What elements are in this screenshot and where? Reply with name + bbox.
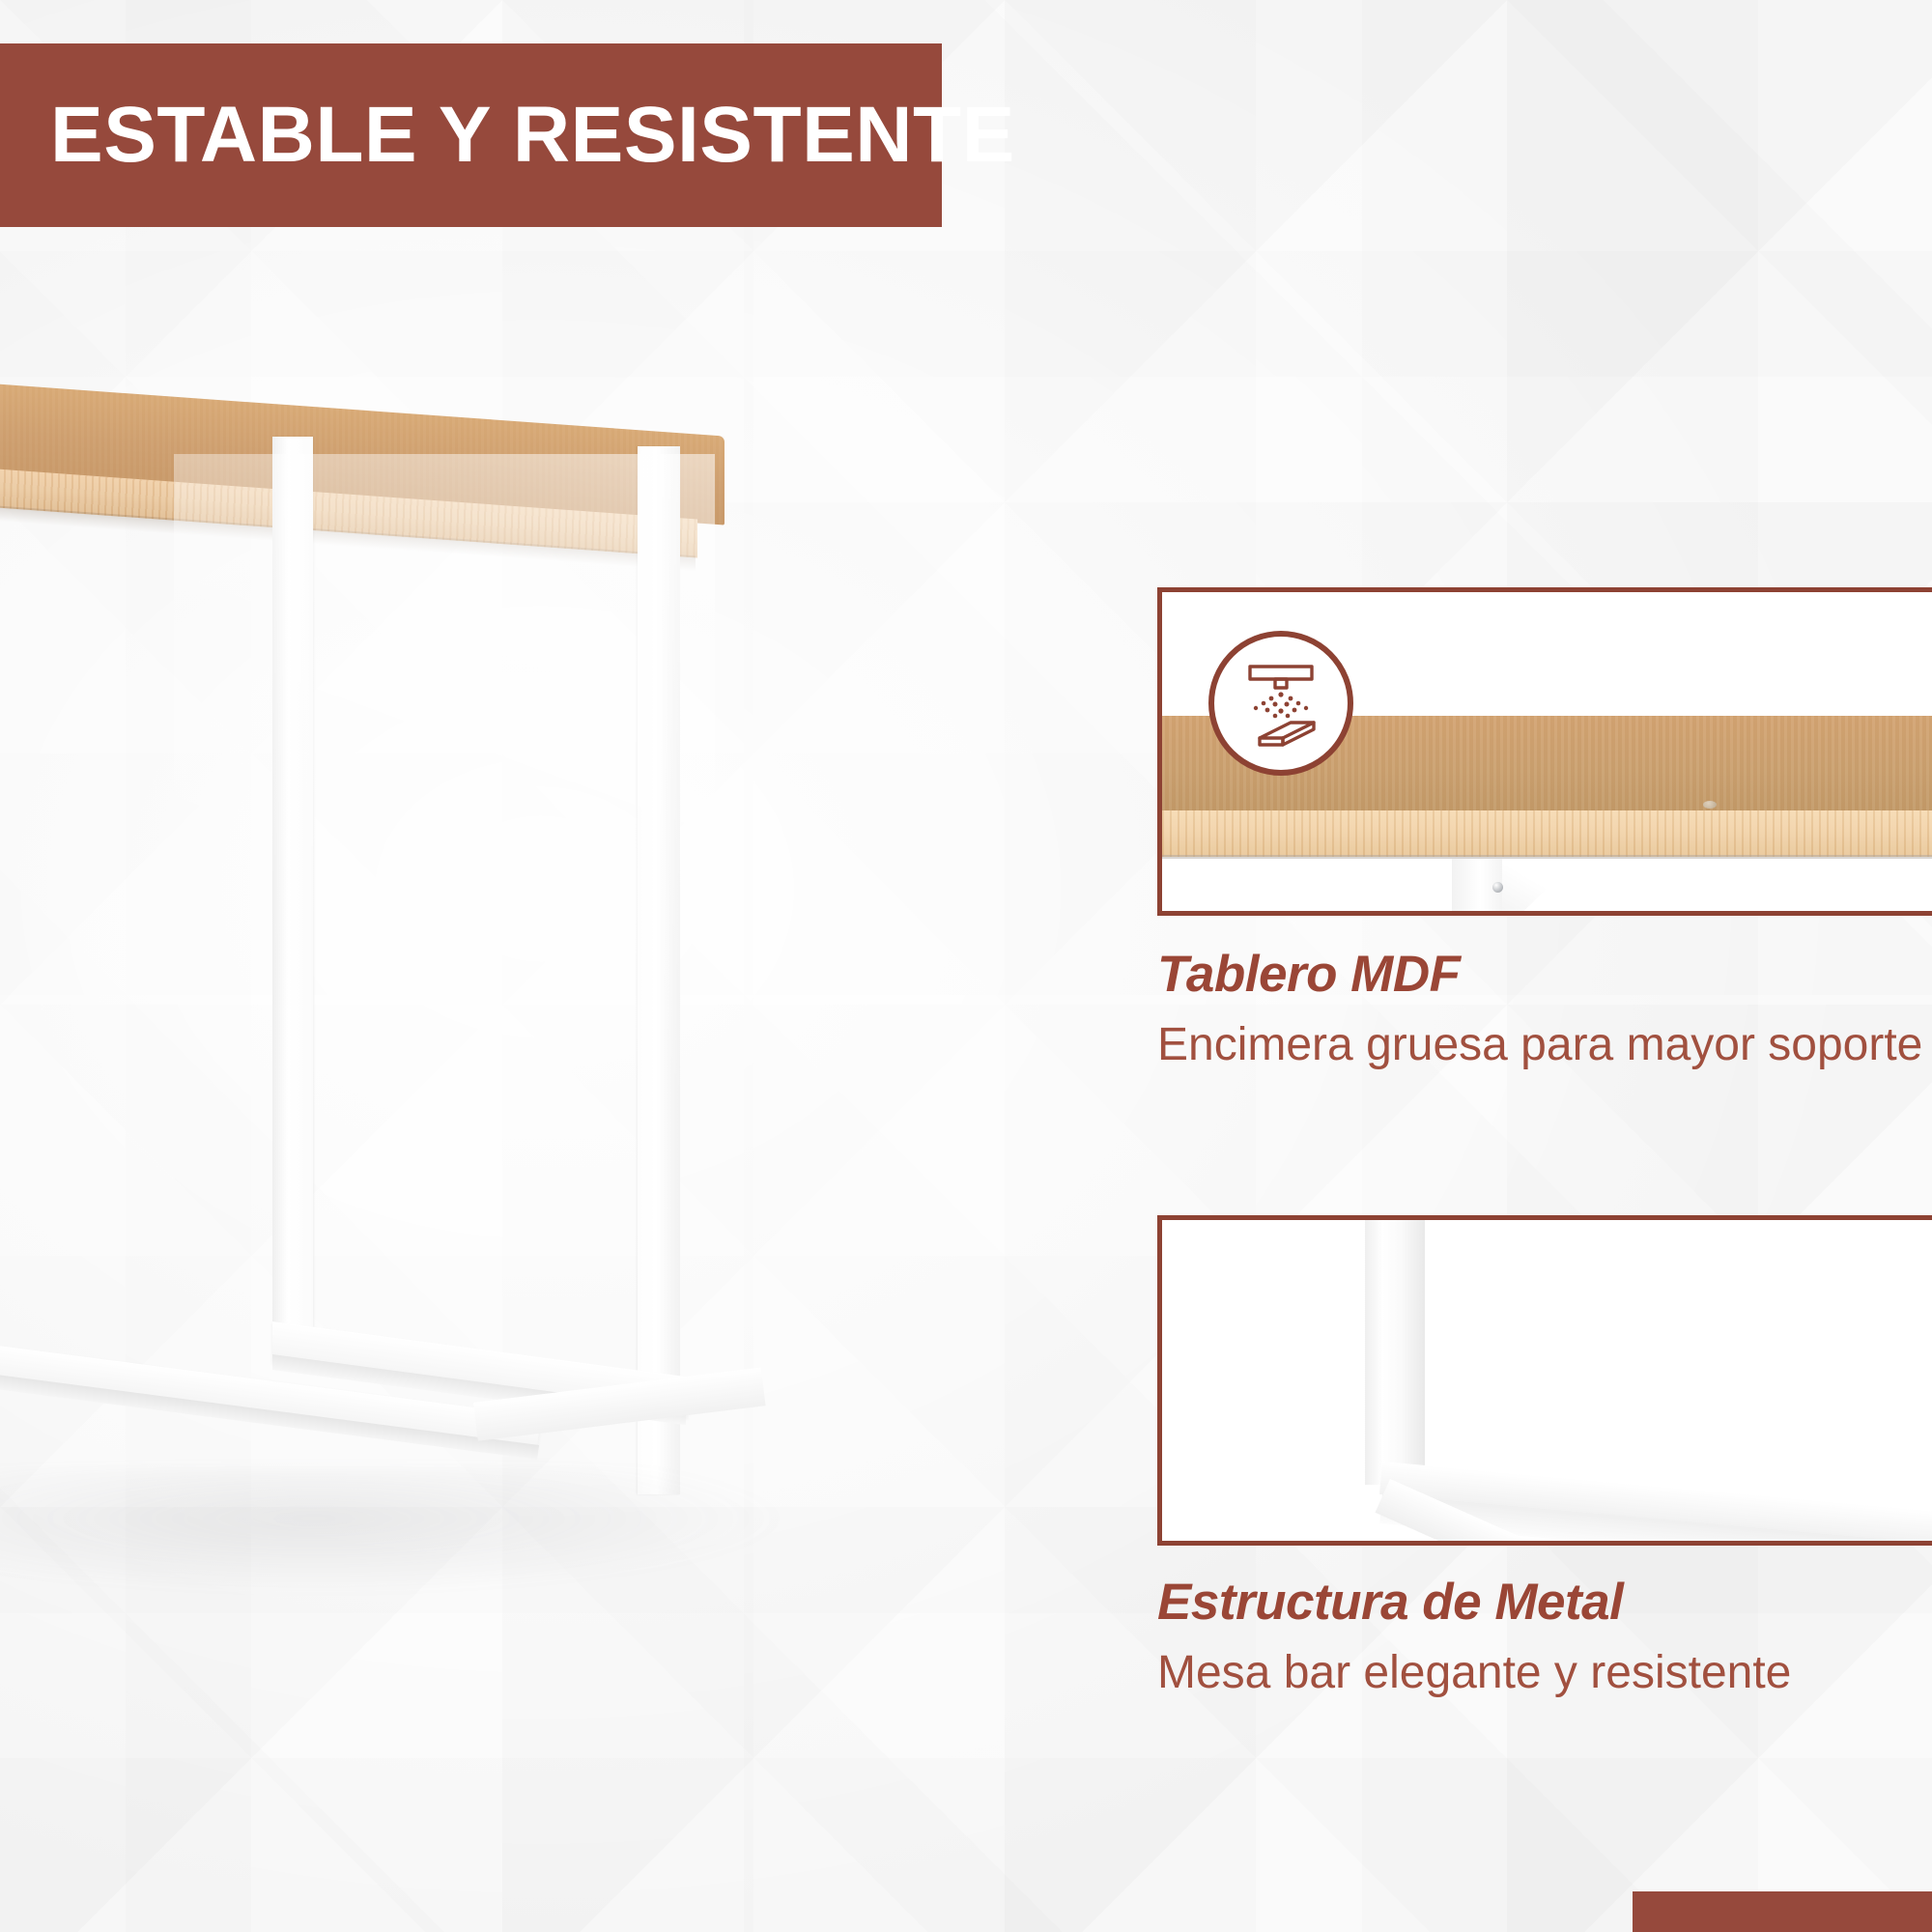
metal-leg-left-inner <box>1400 1216 1425 1469</box>
page-title: ESTABLE Y RESISTENTE <box>0 96 1015 175</box>
feature-subtitle-metal: Mesa bar elegante y resistente <box>1157 1647 1791 1700</box>
feature-title-metal: Estructura de Metal <box>1157 1575 1791 1630</box>
leg-post-right <box>638 446 680 1494</box>
floor-shadow <box>0 1468 792 1594</box>
board-coating-spray-icon <box>1208 631 1353 776</box>
feature-card-mdf <box>1157 587 1932 916</box>
hero-product-photo <box>0 0 869 1932</box>
feature-caption-mdf: Tablero MDF Encimera gruesa para mayor s… <box>1157 947 1922 1072</box>
feature-subtitle-mdf: Encimera gruesa para mayor soporte <box>1157 1019 1922 1072</box>
bracket-screw-icon <box>1492 911 1503 916</box>
mdf-board-edge <box>1162 810 1932 857</box>
mdf-board-underline <box>1162 855 1932 859</box>
table-leg-frame <box>272 437 678 1422</box>
corner-accent-bar <box>1633 1891 1932 1932</box>
feature-card-metal <box>1157 1215 1932 1546</box>
leg-post-left <box>272 437 313 1335</box>
marketing-banner-page: ESTABLE Y RESISTENTE <box>0 0 1932 1932</box>
feature-caption-metal: Estructura de Metal Mesa bar elegante y … <box>1157 1575 1791 1700</box>
bracket-screw-icon <box>1492 882 1503 893</box>
feature-title-mdf: Tablero MDF <box>1157 947 1922 1002</box>
header-banner: ESTABLE Y RESISTENTE <box>0 43 942 227</box>
board-screw-icon <box>1703 801 1717 809</box>
